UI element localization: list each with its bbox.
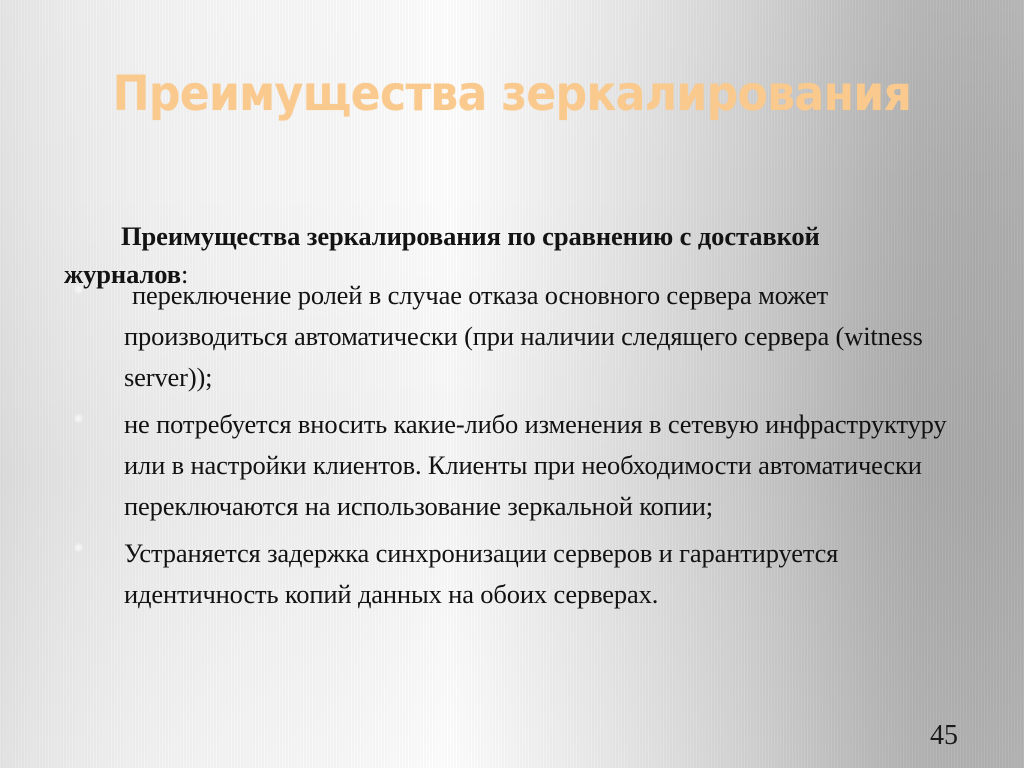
page-number: 45 — [930, 720, 958, 752]
slide-title: Преимущества зеркалирования — [44, 66, 981, 122]
list-item-text: Устраняется задержка синхронизации серве… — [124, 533, 984, 615]
presentation-slide: Преимущества зеркалирования Преимущества… — [0, 0, 1024, 768]
list-item: не потребуется вносить какие-либо измене… — [0, 404, 1024, 527]
bullet-dot-icon — [75, 544, 82, 551]
bullet-dot-icon — [75, 415, 82, 422]
list-item-text: переключение ролей в случае отказа основ… — [124, 275, 984, 398]
bullet-dot-icon — [75, 286, 82, 293]
list-item-text: не потребуется вносить какие-либо измене… — [124, 404, 984, 527]
slide-body: Преимущества зеркалирования по сравнению… — [0, 190, 1024, 710]
list-item: Устраняется задержка синхронизации серве… — [0, 533, 1024, 615]
bullet-list: переключение ролей в случае отказа основ… — [0, 275, 1024, 621]
list-item: переключение ролей в случае отказа основ… — [0, 275, 1024, 398]
